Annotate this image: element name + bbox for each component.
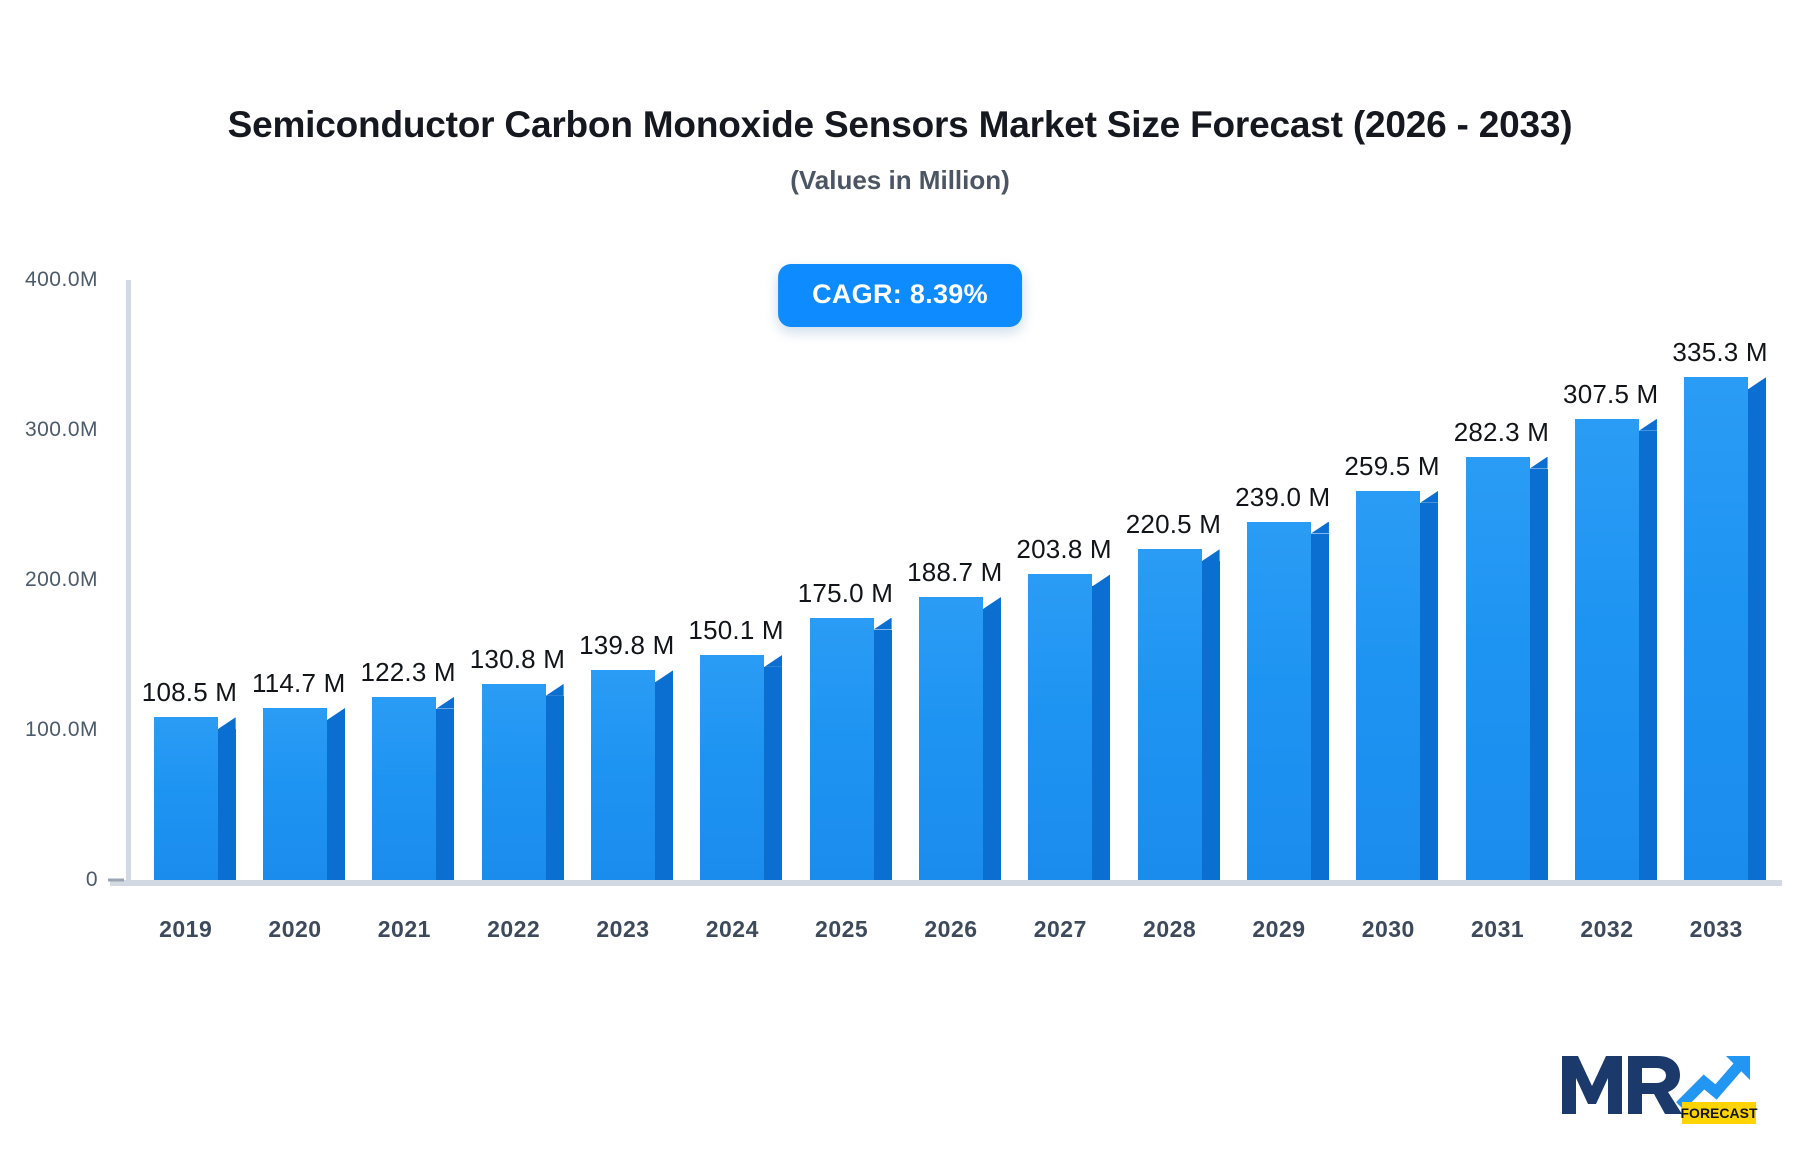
logo-text-mark [1562, 1056, 1682, 1114]
bar-value-label: 282.3 M [1454, 417, 1549, 448]
bar-series: 108.5 M114.7 M122.3 M130.8 M139.8 M150.1… [131, 280, 1771, 880]
bar-front-face: 203.8 M [1028, 574, 1092, 880]
bar-value-label: 220.5 M [1126, 509, 1221, 540]
title-block: Semiconductor Carbon Monoxide Sensors Ma… [0, 104, 1800, 196]
x-axis-tick: 2031 [1443, 916, 1552, 943]
bar-side-face [218, 729, 236, 880]
bar-slot[interactable]: 307.5 M [1552, 280, 1661, 880]
bar-top-bevel [218, 717, 236, 729]
x-axis-tick: 2033 [1662, 916, 1771, 943]
y-axis-tick: 400.0M [25, 268, 98, 292]
bar-side-face [1202, 561, 1220, 880]
bar-side-face [655, 682, 673, 880]
y-axis: 0100.0M200.0M300.0M400.0M [0, 280, 106, 910]
bar[interactable]: 114.7 M [263, 708, 327, 880]
bar[interactable]: 282.3 M [1466, 457, 1530, 880]
chart-title: Semiconductor Carbon Monoxide Sensors Ma… [0, 104, 1800, 147]
bar-value-label: 114.7 M [252, 668, 345, 699]
bar-top-bevel [546, 684, 564, 696]
y-axis-tick: 300.0M [25, 418, 98, 442]
bar[interactable]: 139.8 M [591, 670, 655, 880]
bar-top-bevel [764, 655, 782, 667]
bar-slot[interactable]: 114.7 M [240, 280, 349, 880]
bar-value-label: 175.0 M [798, 578, 893, 609]
logo-forecast-badge: FORECAST [1681, 1102, 1758, 1124]
bar-value-label: 188.7 M [907, 557, 1002, 588]
bar-top-bevel [874, 618, 892, 630]
y-axis-zero-tick-mark [108, 879, 124, 882]
bar-side-face [1530, 469, 1548, 880]
x-axis-tick: 2029 [1224, 916, 1333, 943]
x-axis-tick: 2024 [678, 916, 787, 943]
x-axis-tick: 2020 [240, 916, 349, 943]
x-axis-baseline [110, 880, 1782, 886]
bar-top-bevel [327, 708, 345, 720]
bar-slot[interactable]: 188.7 M [896, 280, 1005, 880]
bar-slot[interactable]: 139.8 M [568, 280, 677, 880]
bar-slot[interactable]: 282.3 M [1443, 280, 1552, 880]
bar-slot[interactable]: 335.3 M [1662, 280, 1771, 880]
bar-front-face: 175.0 M [810, 618, 874, 881]
plot-area: 0100.0M200.0M300.0M400.0M 108.5 M114.7 M… [0, 280, 1800, 910]
bar-top-bevel [1092, 574, 1110, 586]
bar-front-face: 150.1 M [700, 655, 764, 880]
bar-side-face [546, 696, 564, 880]
bar-top-bevel [1530, 457, 1548, 469]
logo-arrow-icon [1680, 1056, 1750, 1106]
bar-value-label: 108.5 M [142, 677, 237, 708]
bar[interactable]: 122.3 M [372, 697, 436, 880]
bar-front-face: 307.5 M [1575, 419, 1639, 880]
bar-value-label: 335.3 M [1672, 337, 1767, 368]
bar-side-face [1311, 534, 1329, 881]
x-axis-tick: 2030 [1334, 916, 1443, 943]
bar-side-face [983, 609, 1001, 880]
x-axis-tick: 2022 [459, 916, 568, 943]
x-axis-tick: 2019 [131, 916, 240, 943]
bar-slot[interactable]: 108.5 M [131, 280, 240, 880]
bar-slot[interactable]: 203.8 M [1006, 280, 1115, 880]
bar[interactable]: 188.7 M [919, 597, 983, 880]
bar-front-face: 282.3 M [1466, 457, 1530, 880]
y-axis-tick: 0 [86, 868, 98, 892]
chart-container: Semiconductor Carbon Monoxide Sensors Ma… [0, 0, 1800, 1156]
bar-front-face: 188.7 M [919, 597, 983, 880]
y-axis-tick: 100.0M [25, 718, 98, 742]
bar-front-face: 130.8 M [482, 684, 546, 880]
bar-value-label: 259.5 M [1344, 451, 1439, 482]
bar[interactable]: 259.5 M [1356, 491, 1420, 880]
bar[interactable]: 220.5 M [1138, 549, 1202, 880]
bar-side-face [1639, 431, 1657, 880]
chart-subtitle: (Values in Million) [0, 165, 1800, 196]
x-axis-tick: 2025 [787, 916, 896, 943]
bar[interactable]: 175.0 M [810, 618, 874, 881]
x-axis-labels: 2019202020212022202320242025202620272028… [131, 916, 1771, 943]
bar-value-label: 150.1 M [688, 615, 783, 646]
x-axis-tick: 2023 [568, 916, 677, 943]
bar-value-label: 139.8 M [579, 630, 674, 661]
mr-forecast-logo: FORECAST [1558, 1042, 1758, 1134]
bar-slot[interactable]: 220.5 M [1115, 280, 1224, 880]
bar[interactable]: 335.3 M [1684, 377, 1748, 880]
bar-side-face [874, 630, 892, 881]
bar-slot[interactable]: 259.5 M [1334, 280, 1443, 880]
bar-front-face: 239.0 M [1247, 522, 1311, 881]
x-axis-tick: 2032 [1552, 916, 1661, 943]
bar-top-bevel [1420, 491, 1438, 503]
bar-value-label: 239.0 M [1235, 482, 1330, 513]
x-axis-tick: 2026 [896, 916, 1005, 943]
bar-front-face: 259.5 M [1356, 491, 1420, 880]
bar-top-bevel [655, 670, 673, 682]
bar-top-bevel [1748, 377, 1766, 389]
bar-value-label: 307.5 M [1563, 379, 1658, 410]
bar[interactable]: 130.8 M [482, 684, 546, 880]
bar[interactable]: 307.5 M [1575, 419, 1639, 880]
bar-side-face [436, 709, 454, 880]
bar-top-bevel [983, 597, 1001, 609]
bar-slot[interactable]: 122.3 M [350, 280, 459, 880]
x-axis-tick: 2028 [1115, 916, 1224, 943]
bar-front-face: 139.8 M [591, 670, 655, 880]
bar-slot[interactable]: 175.0 M [787, 280, 896, 880]
x-axis-tick: 2021 [350, 916, 459, 943]
x-axis-tick: 2027 [1006, 916, 1115, 943]
bar-side-face [1092, 586, 1110, 880]
bar-side-face [327, 720, 345, 880]
bar-front-face: 335.3 M [1684, 377, 1748, 880]
bar-top-bevel [1639, 419, 1657, 431]
bar-slot[interactable]: 130.8 M [459, 280, 568, 880]
bar-top-bevel [1311, 522, 1329, 534]
bar-value-label: 122.3 M [360, 657, 455, 688]
bar[interactable]: 150.1 M [700, 655, 764, 880]
bar-front-face: 220.5 M [1138, 549, 1202, 880]
bar[interactable]: 203.8 M [1028, 574, 1092, 880]
bar-top-bevel [436, 697, 454, 709]
bar-front-face: 122.3 M [372, 697, 436, 880]
y-axis-tick: 200.0M [25, 568, 98, 592]
bar-slot[interactable]: 150.1 M [678, 280, 787, 880]
logo-forecast-label: FORECAST [1681, 1105, 1758, 1121]
bar-side-face [764, 667, 782, 880]
bar[interactable]: 239.0 M [1247, 522, 1311, 881]
bar-front-face: 108.5 M [154, 717, 218, 880]
bar[interactable]: 108.5 M [154, 717, 218, 880]
bar-value-label: 203.8 M [1016, 534, 1111, 565]
bar-front-face: 114.7 M [263, 708, 327, 880]
bar-top-bevel [1202, 549, 1220, 561]
bar-slot[interactable]: 239.0 M [1224, 280, 1333, 880]
bar-side-face [1748, 389, 1766, 880]
bar-side-face [1420, 503, 1438, 880]
bar-value-label: 130.8 M [470, 644, 565, 675]
